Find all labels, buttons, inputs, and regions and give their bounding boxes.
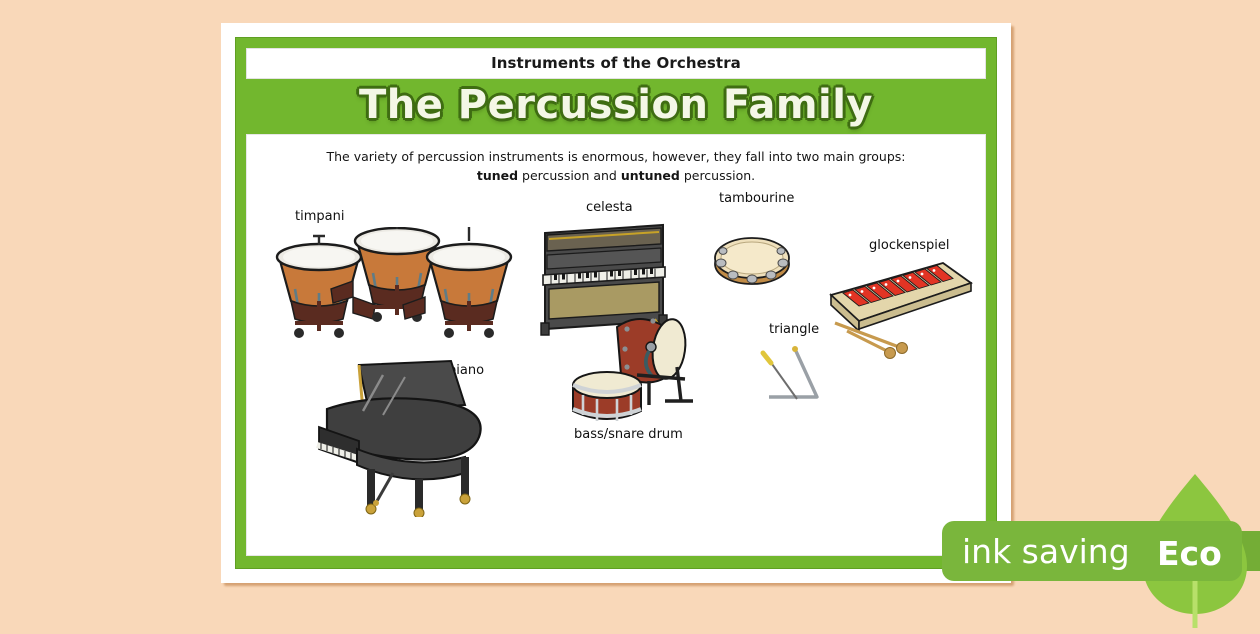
- intro-mid: percussion and: [518, 168, 621, 183]
- intro-line-1: The variety of percussion instruments is…: [326, 149, 905, 164]
- label-celesta: celesta: [586, 200, 633, 215]
- illustration-glockenspiel: [823, 253, 983, 363]
- illustration-triangle: [755, 339, 835, 411]
- label-triangle: triangle: [769, 322, 819, 337]
- illustration-bass-snare-drum: [565, 311, 705, 431]
- poster: Instruments of the Orchestra The Percuss…: [221, 23, 1011, 583]
- screenshot-root: Instruments of the Orchestra The Percuss…: [0, 0, 1260, 630]
- poster-title-band: The Percussion Family: [246, 79, 986, 134]
- intro-end: percussion.: [680, 168, 755, 183]
- label-timpani: timpani: [295, 209, 344, 224]
- intro-bold-tuned: tuned: [477, 168, 518, 183]
- illustration-piano: [297, 357, 512, 517]
- page-title: The Percussion Family: [246, 85, 986, 125]
- poster-green-frame: Instruments of the Orchestra The Percuss…: [235, 37, 997, 569]
- poster-content-panel: The variety of percussion instruments is…: [246, 134, 986, 556]
- eco-banner-text: ink saving: [942, 532, 1130, 571]
- poster-subtitle-banner: Instruments of the Orchestra: [246, 48, 986, 79]
- intro-bold-untuned: untuned: [621, 168, 680, 183]
- illustration-tambourine: [707, 231, 797, 291]
- label-glockenspiel: glockenspiel: [869, 238, 950, 253]
- illustration-timpani: [269, 227, 519, 343]
- intro-text: The variety of percussion instruments is…: [247, 135, 985, 186]
- poster-subtitle: Instruments of the Orchestra: [491, 54, 741, 72]
- label-tambourine: tambourine: [719, 191, 794, 206]
- eco-banner-eco-label: Eco: [1157, 534, 1222, 573]
